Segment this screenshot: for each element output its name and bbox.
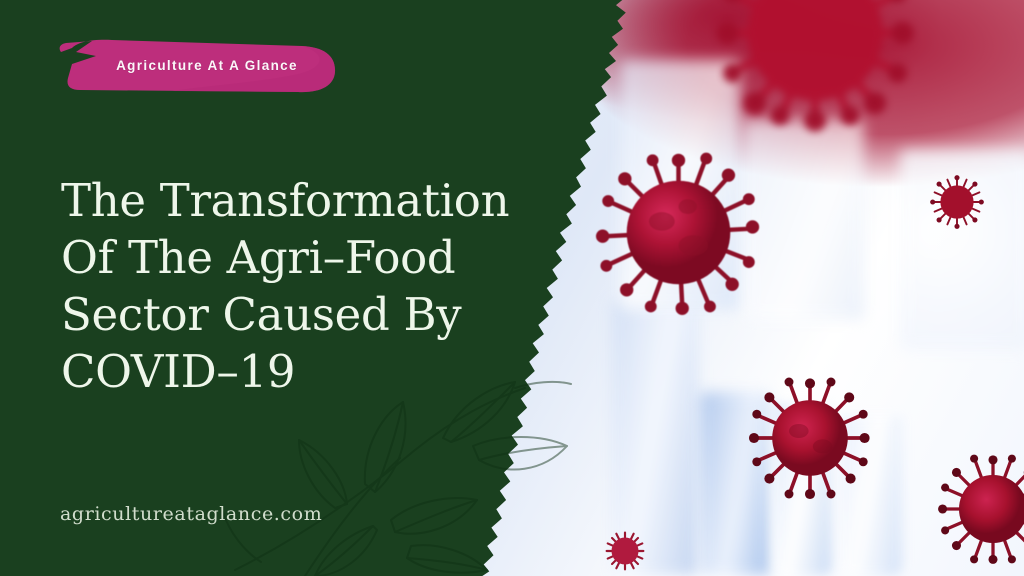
- covid-agrifood-banner: Agriculture At A Glance The Transformati…: [0, 0, 1024, 576]
- virus-small-right: [925, 170, 989, 234]
- virus-mid-bottom: [740, 368, 880, 508]
- badge-label: Agriculture At A Glance: [52, 34, 342, 96]
- leaf-branch-illustration: [215, 380, 615, 576]
- site-url[interactable]: agricultureataglance.com: [60, 503, 322, 525]
- virus-bottom-right: [930, 446, 1024, 572]
- virus-large-top: [690, 0, 940, 158]
- category-badge[interactable]: Agriculture At A Glance: [52, 34, 342, 96]
- virus-main-left: [586, 140, 771, 325]
- page-title: The Transformation Of The Agri–Food Sect…: [61, 172, 581, 400]
